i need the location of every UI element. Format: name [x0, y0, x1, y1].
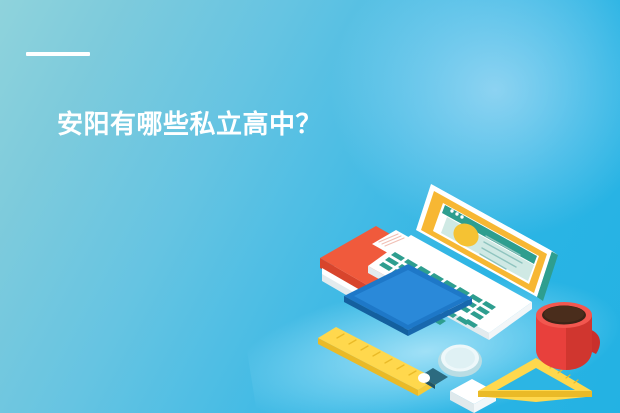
accent-rule	[26, 52, 90, 56]
page-title: 安阳有哪些私立高中？	[57, 106, 322, 142]
coffee-mug-icon	[536, 302, 600, 370]
education-illustration	[300, 178, 620, 413]
banner: 安阳有哪些私立高中？	[0, 0, 620, 413]
ruler-icon	[318, 327, 436, 396]
